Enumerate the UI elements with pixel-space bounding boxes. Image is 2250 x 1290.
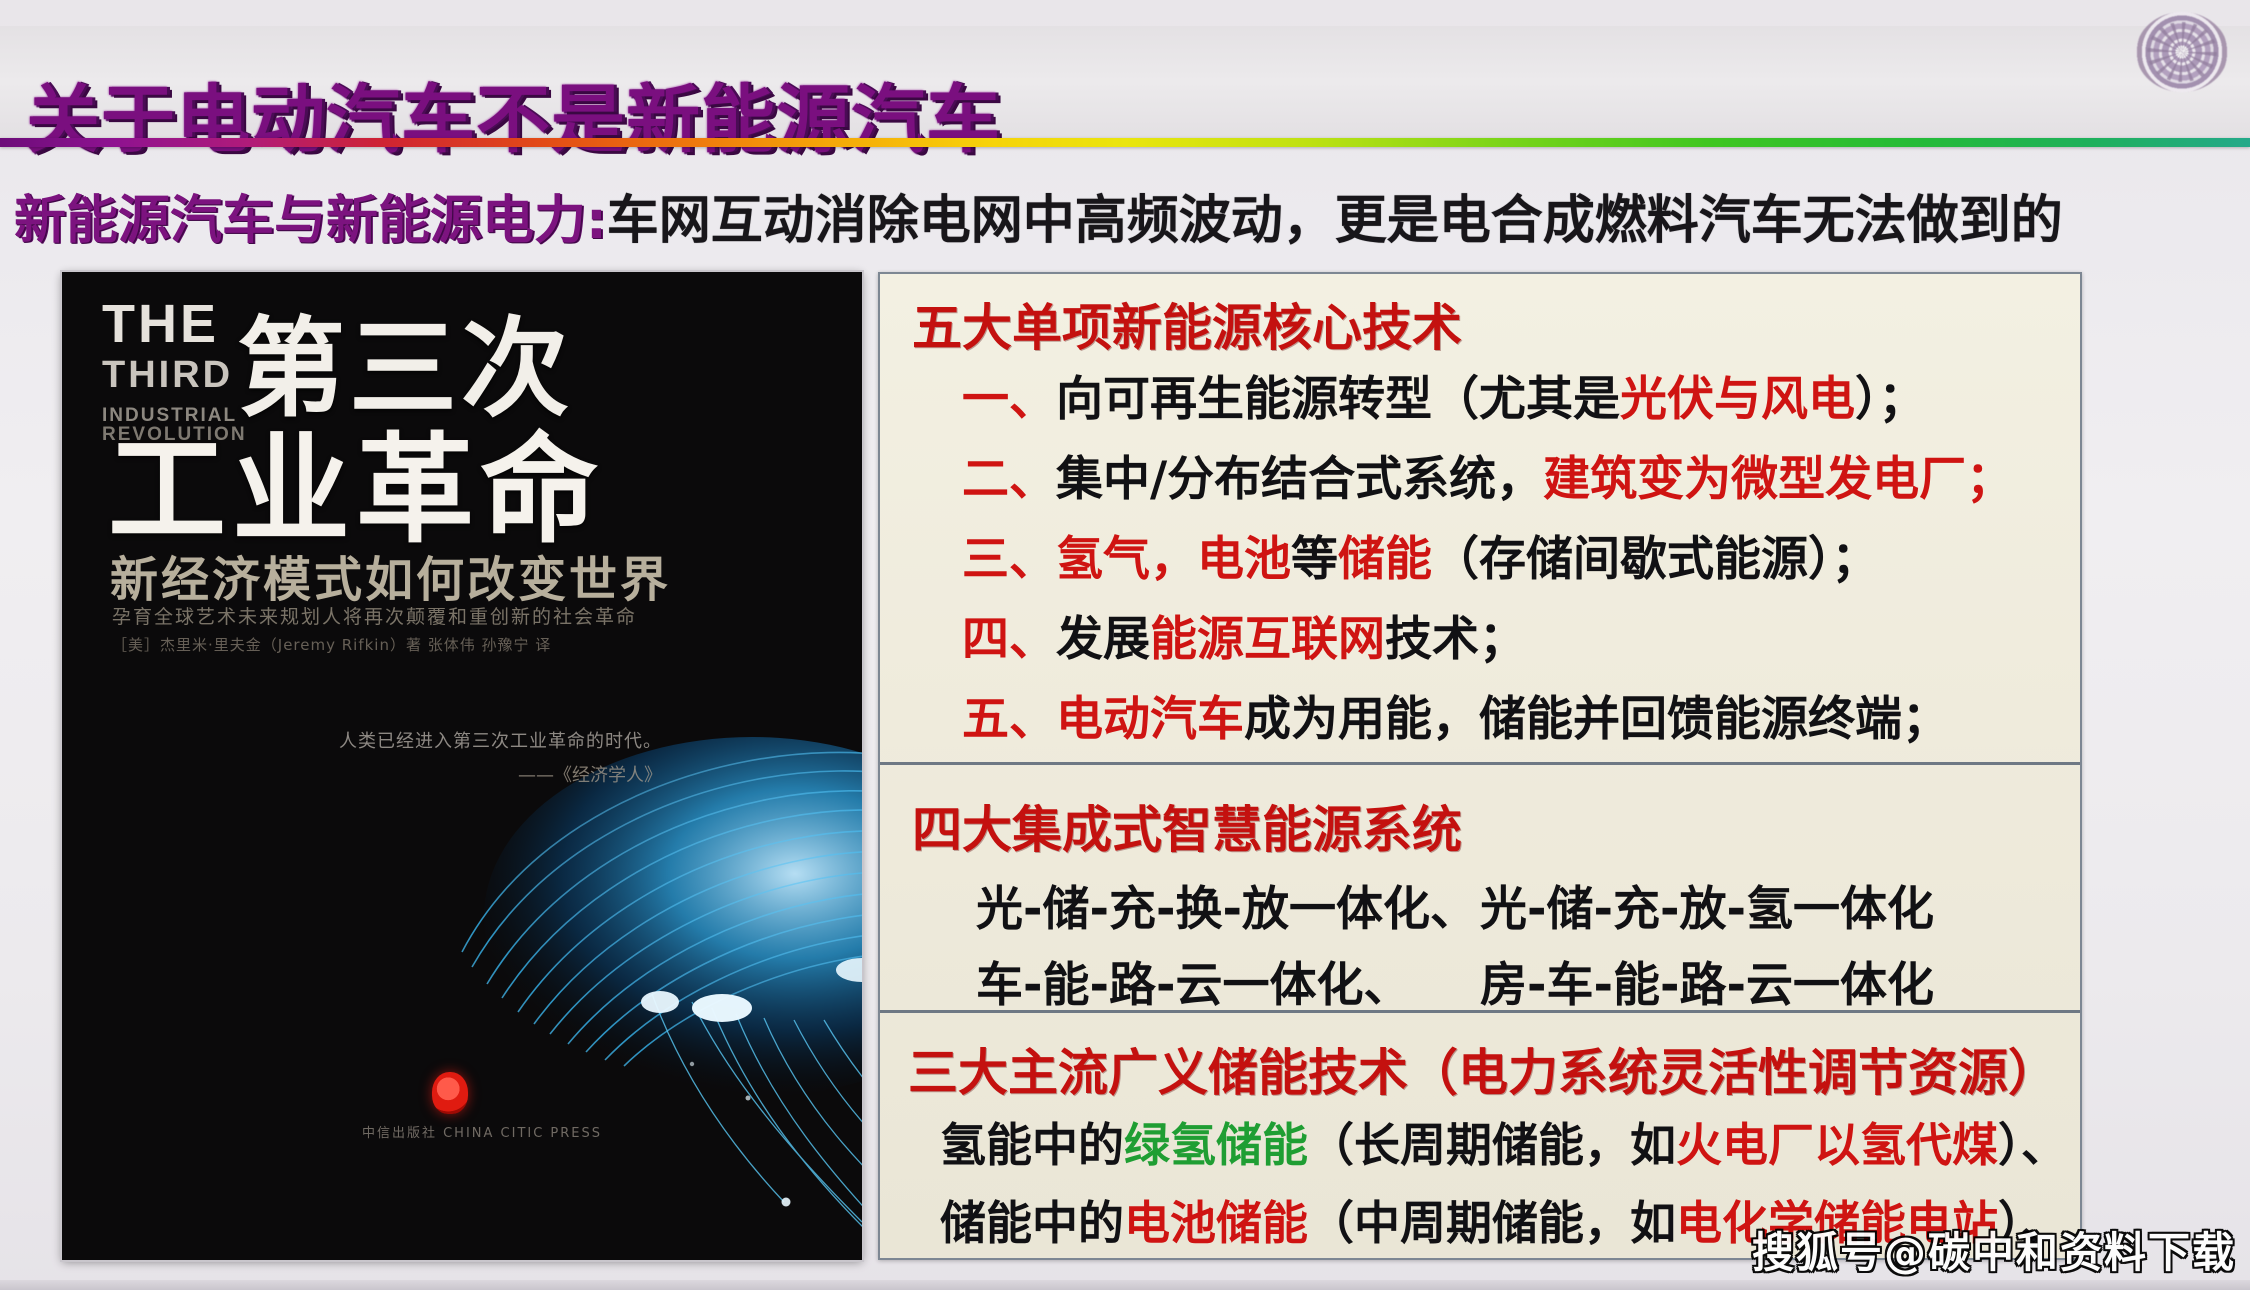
item-number: 一、 bbox=[962, 372, 1056, 427]
seal-spokes bbox=[2147, 22, 2217, 83]
section-core-technologies: 五大单项新能源核心技术 一、向可再生能源转型（尤其是光伏与风电）； 二、集中/分… bbox=[880, 274, 2080, 688]
item-part-highlight: 氢气，电池 bbox=[1056, 532, 1291, 587]
section2-cell-2-2: 房-车-能-路-云一体化 bbox=[1480, 946, 1934, 1015]
title-bar: 关于电动汽车不是新能源汽车 bbox=[0, 26, 2250, 138]
section3-item-1: 氢能中的绿氢储能（长周期储能，如火电厂以氢代煤）、 bbox=[940, 1109, 2067, 1175]
item-part: ）； bbox=[1855, 372, 1926, 427]
item-number: 三、 bbox=[962, 532, 1056, 587]
slide-canvas: 关于电动汽车不是新能源汽车 新能源汽车与新能源电力:车网互动消除电网中高频波动，… bbox=[0, 0, 2250, 1290]
section-divider-1 bbox=[880, 762, 2080, 765]
university-seal-icon bbox=[2136, 12, 2228, 92]
book-author-line: ［美］杰里米·里夫金（Jeremy Rifkin）著 张体伟 孙豫宁 译 bbox=[112, 634, 551, 655]
item-number: 二、 bbox=[962, 452, 1056, 507]
subtitle-line: 新能源汽车与新能源电力:车网互动消除电网中高频波动，更是电合成燃料汽车无法做到的 bbox=[14, 190, 2250, 252]
section-integrated-systems: 四大集成式智慧能源系统 光-储-充-换-放一体化、 光-储-充-放-氢一体化 车… bbox=[880, 774, 2080, 1014]
item-part: 发展 bbox=[1056, 612, 1150, 667]
book-cn-subtitle: 新经济模式如何改变世界 bbox=[110, 540, 671, 610]
item-part: 储能中的 bbox=[940, 1196, 1124, 1250]
rainbow-divider bbox=[0, 138, 2250, 147]
section1-item-1: 一、向可再生能源转型（尤其是光伏与风电）； bbox=[962, 360, 1926, 429]
item-number: 五、 bbox=[962, 692, 1056, 747]
item-part-highlight: 建筑变为微型发电厂； bbox=[1543, 452, 2013, 507]
item-part: 等 bbox=[1291, 532, 1338, 587]
item-part-highlight: 光伏与风电 bbox=[1620, 372, 1855, 427]
item-part: （长周期储能，如 bbox=[1308, 1118, 1676, 1172]
section2-cell-1-1: 光-储-充-换-放一体化、 bbox=[976, 870, 1477, 939]
book-cover-inner: THE THIRD INDUSTRIAL REVOLUTION 第三次 工业革命… bbox=[62, 272, 862, 1260]
section2-cell-1-2: 光-储-充-放-氢一体化 bbox=[1480, 870, 1934, 939]
item-part: 成为用能，储能并回馈能源终端； bbox=[1244, 692, 1949, 747]
item-part-highlight: 火电厂以氢代煤 bbox=[1676, 1118, 1998, 1172]
bottom-band bbox=[0, 1280, 2250, 1290]
book-quote-text: 人类已经进入第三次工业革命的时代。 bbox=[232, 727, 662, 753]
section2-heading: 四大集成式智慧能源系统 bbox=[912, 790, 1462, 862]
section1-item-3: 三、氢气，电池等储能（存储间歇式能源）； bbox=[962, 520, 1879, 589]
section1-heading: 五大单项新能源核心技术 bbox=[912, 288, 1462, 360]
subtitle-rest: 车网互动消除电网中高频波动，更是电合成燃料汽车无法做到的 bbox=[607, 191, 2063, 251]
publisher-logo-icon bbox=[432, 1072, 468, 1114]
item-part-highlight: 电动汽车 bbox=[1056, 692, 1244, 747]
section2-cell-2-1: 车-能-路-云一体化、 bbox=[976, 946, 1411, 1015]
item-part: 技术； bbox=[1385, 612, 1526, 667]
item-part: 集中/分布结合式系统， bbox=[1056, 452, 1543, 507]
section1-item-2: 二、集中/分布结合式系统，建筑变为微型发电厂； bbox=[962, 440, 2013, 509]
section3-heading: 三大主流广义储能技术（电力系统灵活性调节资源） bbox=[908, 1033, 2058, 1105]
item-part-highlight: 电池储能 bbox=[1124, 1196, 1308, 1250]
item-part: （中周期储能，如 bbox=[1308, 1196, 1676, 1250]
item-part-highlight: 能源互联网 bbox=[1150, 612, 1385, 667]
book-quote-block: 人类已经进入第三次工业革命的时代。 ——《经济学人》 bbox=[232, 727, 662, 787]
item-part-highlight: 储能 bbox=[1338, 532, 1432, 587]
source-watermark: 搜狐号@碳中和资料下载 bbox=[1752, 1219, 2236, 1280]
book-quote-source: ——《经济学人》 bbox=[232, 761, 662, 787]
publisher-name: 中信出版社 CHINA CITIC PRESS bbox=[352, 1122, 612, 1141]
item-part: 向可再生能源转型（尤其是 bbox=[1056, 372, 1620, 427]
section-divider-2 bbox=[880, 1010, 2080, 1013]
item-part: 氢能中的 bbox=[940, 1118, 1124, 1172]
item-part: ）、 bbox=[1998, 1118, 2067, 1172]
subtitle-highlight: 新能源汽车与新能源电力: bbox=[14, 191, 607, 251]
book-cover-image: THE THIRD INDUSTRIAL REVOLUTION 第三次 工业革命… bbox=[62, 272, 862, 1260]
section1-item-5: 五、电动汽车成为用能，储能并回馈能源终端； bbox=[962, 680, 1949, 749]
item-number: 四、 bbox=[962, 612, 1056, 667]
book-tagline: 孕育全球艺术未来规划人将再次颠覆和重创新的社会革命 bbox=[112, 602, 637, 629]
item-part: （存储间歇式能源）； bbox=[1432, 532, 1879, 587]
item-part-green: 绿氢储能 bbox=[1124, 1118, 1308, 1172]
section1-item-4: 四、发展能源互联网技术； bbox=[962, 600, 1526, 669]
content-panel: 五大单项新能源核心技术 一、向可再生能源转型（尤其是光伏与风电）； 二、集中/分… bbox=[878, 272, 2082, 1260]
page-title: 关于电动汽车不是新能源汽车 bbox=[26, 60, 1001, 167]
